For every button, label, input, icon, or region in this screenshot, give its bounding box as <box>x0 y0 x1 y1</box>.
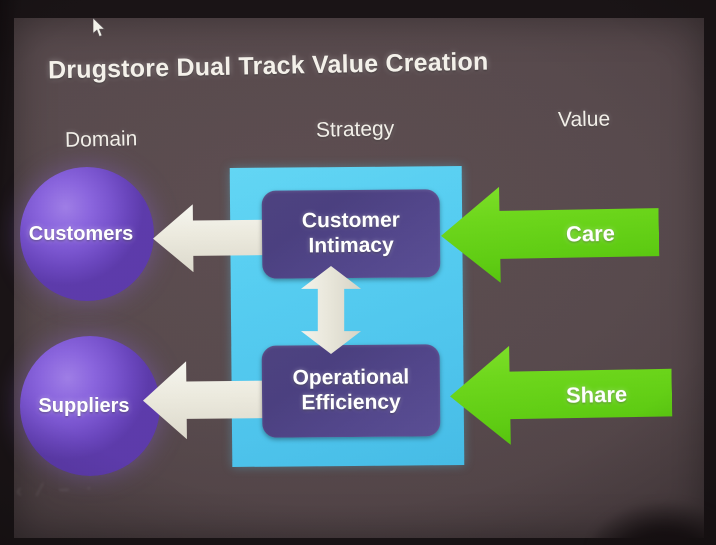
strategy-box-customer-intimacy: Customer Intimacy <box>262 189 441 279</box>
column-header-strategy: Strategy <box>316 117 395 143</box>
column-header-domain: Domain <box>65 127 138 153</box>
strategy-box-operational-efficiency: Operational Efficiency <box>262 344 441 438</box>
domain-circle-suppliers-label: Suppliers <box>38 395 129 418</box>
domain-circle-customers: Customers <box>20 167 154 301</box>
projected-slide-photo: Drugstore Dual Track Value Creation Doma… <box>0 0 716 545</box>
value-arrow-share-label: Share <box>566 381 628 408</box>
strategy-box-operational-efficiency-line2: Efficiency <box>301 391 400 416</box>
strategy-box-customer-intimacy-line1: Customer <box>302 209 400 234</box>
column-header-value: Value <box>558 107 611 132</box>
strategy-box-customer-intimacy-line2: Intimacy <box>308 234 393 259</box>
strategy-box-operational-efficiency-line1: Operational <box>292 366 409 392</box>
domain-circle-customers-label: Customers <box>29 223 133 246</box>
value-arrow-care-label: Care <box>566 221 615 248</box>
domain-circle-suppliers: Suppliers <box>20 336 160 476</box>
